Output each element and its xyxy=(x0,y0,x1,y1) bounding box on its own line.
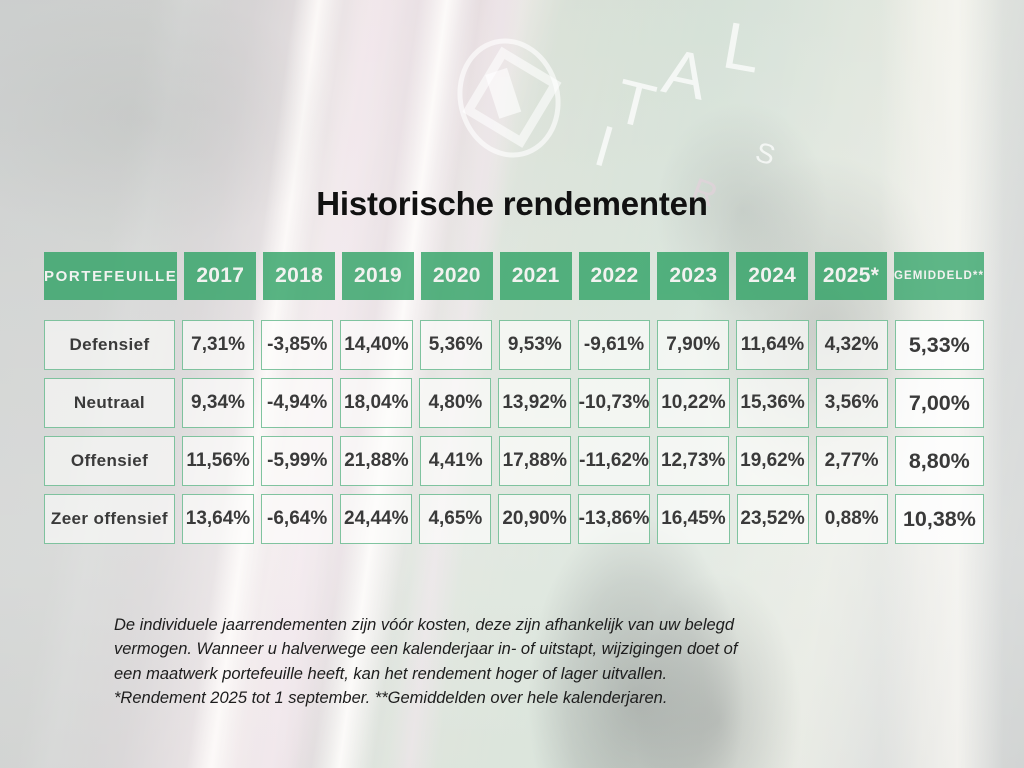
slide: I T A L R S Historische rendementen PORT… xyxy=(0,0,1024,768)
page-title: Historische rendementen xyxy=(0,185,1024,223)
cell-neutraal-2023: 10,22% xyxy=(657,378,729,428)
cell-offensief-2020: 4,41% xyxy=(420,436,492,486)
column-header-portefeuille: PORTEFEUILLE xyxy=(44,252,177,300)
footnote-line-2: vermogen. Wanneer u halverwege een kalen… xyxy=(114,637,904,661)
table-row: Offensief 11,56% -5,99% 21,88% 4,41% 17,… xyxy=(44,436,984,486)
cell-defensief-2019: 14,40% xyxy=(340,320,412,370)
column-header-2025: 2025* xyxy=(815,252,887,300)
slide-content: Historische rendementen PORTEFEUILLE 201… xyxy=(0,0,1024,768)
column-header-2018: 2018 xyxy=(263,252,335,300)
cell-neutraal-2021: 13,92% xyxy=(498,378,570,428)
column-header-2023: 2023 xyxy=(657,252,729,300)
row-label-zeer-offensief: Zeer offensief xyxy=(44,494,175,544)
cell-defensief-2025: 4,32% xyxy=(816,320,888,370)
cell-defensief-gemiddeld: 5,33% xyxy=(895,320,984,370)
cell-zeer-offensief-2017: 13,64% xyxy=(182,494,254,544)
cell-defensief-2017: 7,31% xyxy=(182,320,254,370)
cell-zeer-offensief-2023: 16,45% xyxy=(657,494,729,544)
returns-table: PORTEFEUILLE 2017 2018 2019 2020 2021 20… xyxy=(44,252,984,544)
cell-neutraal-2018: -4,94% xyxy=(261,378,333,428)
column-header-2022: 2022 xyxy=(579,252,651,300)
footnote-line-4: *Rendement 2025 tot 1 september. **Gemid… xyxy=(114,686,904,710)
cell-neutraal-2019: 18,04% xyxy=(340,378,412,428)
table-header-row: PORTEFEUILLE 2017 2018 2019 2020 2021 20… xyxy=(44,252,984,300)
cell-neutraal-2024: 15,36% xyxy=(737,378,809,428)
cell-neutraal-2025: 3,56% xyxy=(816,378,888,428)
cell-offensief-2023: 12,73% xyxy=(657,436,729,486)
cell-neutraal-2017: 9,34% xyxy=(182,378,254,428)
cell-neutraal-gemiddeld: 7,00% xyxy=(895,378,984,428)
row-label-neutraal: Neutraal xyxy=(44,378,175,428)
cell-offensief-2019: 21,88% xyxy=(340,436,412,486)
column-header-gemiddeld: GEMIDDELD** xyxy=(894,252,984,300)
column-header-2024: 2024 xyxy=(736,252,808,300)
table-row: Defensief 7,31% -3,85% 14,40% 5,36% 9,53… xyxy=(44,320,984,370)
footnote-line-1: De individuele jaarrendementen zijn vóór… xyxy=(114,613,904,637)
footnote: De individuele jaarrendementen zijn vóór… xyxy=(114,613,904,710)
column-header-2021: 2021 xyxy=(500,252,572,300)
cell-defensief-2021: 9,53% xyxy=(499,320,571,370)
cell-zeer-offensief-2021: 20,90% xyxy=(498,494,570,544)
table-row: Zeer offensief 13,64% -6,64% 24,44% 4,65… xyxy=(44,494,984,544)
footnote-line-3: een maatwerk portefeuille heeft, kan het… xyxy=(114,662,904,686)
cell-offensief-2021: 17,88% xyxy=(499,436,571,486)
cell-zeer-offensief-gemiddeld: 10,38% xyxy=(895,494,984,544)
cell-defensief-2018: -3,85% xyxy=(261,320,333,370)
cell-offensief-2024: 19,62% xyxy=(736,436,808,486)
cell-zeer-offensief-2018: -6,64% xyxy=(261,494,333,544)
cell-neutraal-2020: 4,80% xyxy=(419,378,491,428)
cell-offensief-2017: 11,56% xyxy=(182,436,254,486)
row-label-offensief: Offensief xyxy=(44,436,175,486)
cell-zeer-offensief-2024: 23,52% xyxy=(737,494,809,544)
cell-defensief-2020: 5,36% xyxy=(420,320,492,370)
row-label-defensief: Defensief xyxy=(44,320,175,370)
cell-offensief-2022: -11,62% xyxy=(578,436,650,486)
cell-offensief-gemiddeld: 8,80% xyxy=(895,436,984,486)
cell-defensief-2023: 7,90% xyxy=(657,320,729,370)
cell-defensief-2024: 11,64% xyxy=(736,320,808,370)
column-header-2019: 2019 xyxy=(342,252,414,300)
cell-defensief-2022: -9,61% xyxy=(578,320,650,370)
cell-zeer-offensief-2022: -13,86% xyxy=(578,494,651,544)
column-header-2020: 2020 xyxy=(421,252,493,300)
cell-offensief-2018: -5,99% xyxy=(261,436,333,486)
cell-offensief-2025: 2,77% xyxy=(816,436,888,486)
cell-zeer-offensief-2019: 24,44% xyxy=(340,494,412,544)
table-row: Neutraal 9,34% -4,94% 18,04% 4,80% 13,92… xyxy=(44,378,984,428)
cell-zeer-offensief-2025: 0,88% xyxy=(816,494,888,544)
column-header-2017: 2017 xyxy=(184,252,256,300)
cell-neutraal-2022: -10,73% xyxy=(578,378,651,428)
cell-zeer-offensief-2020: 4,65% xyxy=(419,494,491,544)
